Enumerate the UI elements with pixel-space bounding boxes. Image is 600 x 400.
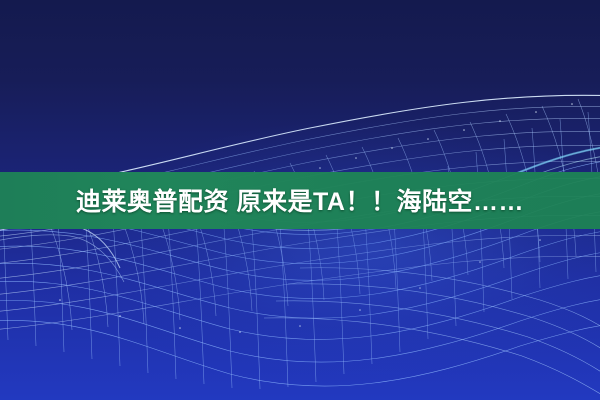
- headline-band: 迪莱奥普配资 原来是TA！！海陆空……: [0, 172, 600, 229]
- promo-banner: 迪莱奥普配资 原来是TA！！海陆空……: [0, 0, 600, 400]
- headline-text: 迪莱奥普配资 原来是TA！！海陆空……: [0, 172, 600, 229]
